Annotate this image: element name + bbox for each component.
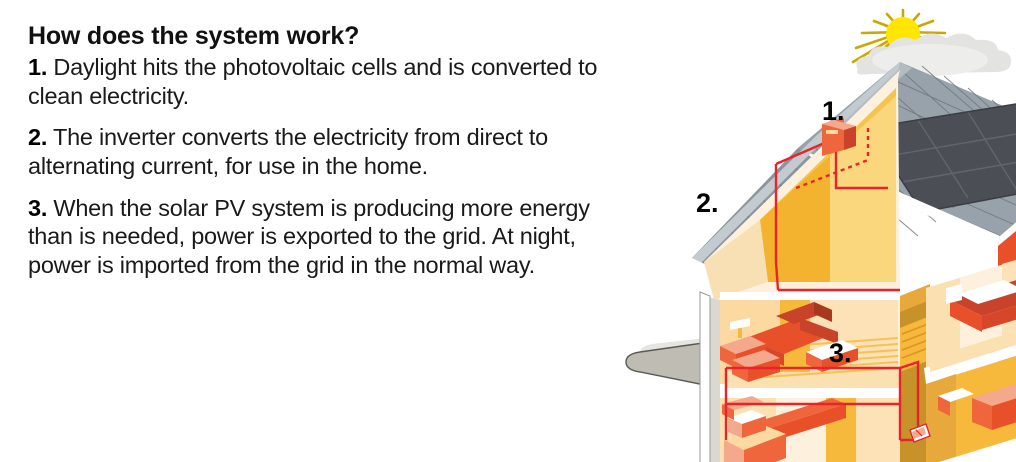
callout-2: 2.: [696, 188, 719, 219]
explanation-text-column: How does the system work? 1. Daylight hi…: [28, 22, 598, 293]
page-title: How does the system work?: [28, 22, 598, 51]
step-number-2: 2.: [28, 124, 47, 150]
step-text-1: Daylight hits the photovoltaic cells and…: [28, 54, 597, 109]
step-text-3: When the solar PV system is producing mo…: [28, 195, 590, 278]
solar-pv-infographic: How does the system work? 1. Daylight hi…: [0, 0, 1016, 462]
step-text-2: The inverter converts the electricity fr…: [28, 124, 548, 179]
step-item-1: 1. Daylight hits the photovoltaic cells …: [28, 53, 598, 110]
step-number-1: 1.: [28, 54, 47, 80]
callout-3: 3.: [829, 338, 852, 369]
step-number-3: 3.: [28, 195, 47, 221]
house-right-cutaway-rooms: [924, 244, 1016, 462]
step-item-3: 3. When the solar PV system is producing…: [28, 194, 598, 280]
callout-1: 1.: [822, 96, 845, 127]
house-illustration: 1. 1. 2. 3.: [600, 0, 1016, 462]
step-item-2: 2. The inverter converts the electricity…: [28, 123, 598, 180]
